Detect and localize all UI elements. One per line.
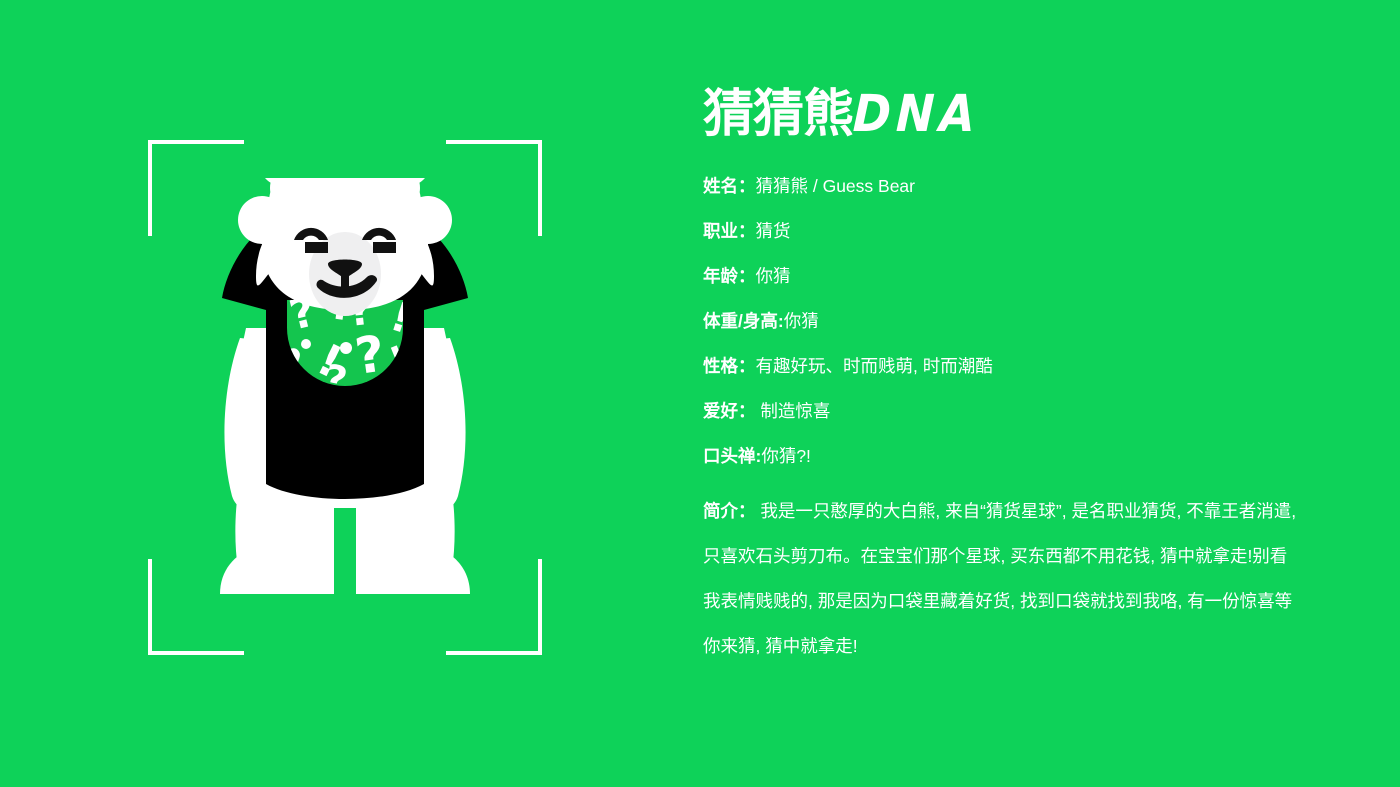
spec-value-personality: 有趣好玩、时而贱萌, 时而潮酷 <box>756 356 993 376</box>
page-title: 猜猜熊DNA <box>703 88 1323 142</box>
spec-value-hobby: 制造惊喜 <box>756 401 831 421</box>
frame-corner-top-right-vertical <box>538 140 542 236</box>
pocket-dot <box>301 339 311 349</box>
spec-value-age: 你猜 <box>756 266 791 286</box>
bear-eye-left-lash <box>305 242 328 253</box>
poster-canvas: ? ! ? ! ! ? ? ? ! <box>0 0 1400 787</box>
spec-row-catchphrase: 口头禅:你猜?! <box>703 448 1323 466</box>
spec-row-personality: 性格：有趣好玩、时而贱萌, 时而潮酷 <box>703 358 1323 376</box>
spec-row-hobby: 爱好： 制造惊喜 <box>703 403 1323 421</box>
frame-corner-bottom-left-vertical <box>148 559 152 655</box>
bear-face-group <box>262 178 428 316</box>
spec-label-weight-height: 体重/身高: <box>703 311 784 331</box>
mascot-frame-panel: ? ! ? ! ! ? ? ? ! <box>148 140 542 655</box>
frame-corner-bottom-right-vertical <box>538 559 542 655</box>
spec-label-name: 姓名： <box>703 176 756 196</box>
frame-corner-bottom-right-horizontal <box>446 651 542 655</box>
guess-bear-illustration: ? ! ? ! ! ? ? ? ! <box>210 178 480 638</box>
bio-label: 简介： <box>703 501 756 521</box>
spec-label-age: 年龄： <box>703 266 756 286</box>
frame-corner-top-left-vertical <box>148 140 152 236</box>
spec-row-age: 年龄：你猜 <box>703 268 1323 286</box>
page-title-chinese: 猜猜熊 <box>703 85 853 144</box>
frame-corner-top-left-horizontal <box>148 140 244 144</box>
spec-row-name: 姓名：猜猜熊 / Guess Bear <box>703 178 1323 196</box>
spec-label-catchphrase: 口头禅: <box>703 446 761 466</box>
bio-paragraph: 简介： 我是一只憨厚的大白熊, 来自“猜货星球”, 是名职业猜货, 不靠王者消遣… <box>703 489 1303 669</box>
spec-value-occupation: 猜货 <box>756 221 791 241</box>
spec-label-personality: 性格： <box>703 356 756 376</box>
bear-eye-right-lash <box>373 242 396 253</box>
pocket-dot <box>340 342 352 354</box>
spec-label-hobby: 爱好： <box>703 401 756 421</box>
dna-card: 猜猜熊DNA 姓名：猜猜熊 / Guess Bear 职业：猜货 年龄：你猜 体… <box>703 88 1323 669</box>
bio-text: 我是一只憨厚的大白熊, 来自“猜货星球”, 是名职业猜货, 不靠王者消遣, 只喜… <box>703 501 1296 656</box>
frame-corner-top-right-horizontal <box>446 140 542 144</box>
spec-label-occupation: 职业： <box>703 221 756 241</box>
spec-row-weight-height: 体重/身高:你猜 <box>703 313 1323 331</box>
spec-value-weight-height: 你猜 <box>784 311 819 331</box>
frame-corner-bottom-left-horizontal <box>148 651 244 655</box>
page-title-latin: DNA <box>852 88 981 142</box>
spec-row-occupation: 职业：猜货 <box>703 223 1323 241</box>
spec-value-catchphrase: 你猜?! <box>761 446 811 466</box>
spec-list: 姓名：猜猜熊 / Guess Bear 职业：猜货 年龄：你猜 体重/身高:你猜… <box>703 178 1323 466</box>
spec-value-name: 猜猜熊 / Guess Bear <box>756 176 916 196</box>
